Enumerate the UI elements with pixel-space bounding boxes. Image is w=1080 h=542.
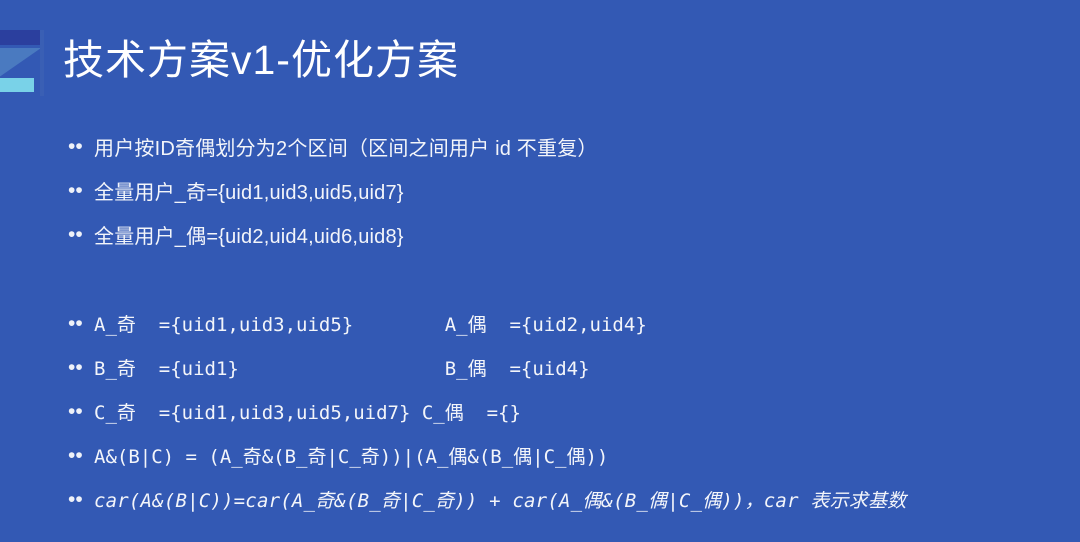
- list-item-label: 全量用户_偶={uid2,uid4,uid6,uid8}: [94, 220, 1058, 249]
- list-item-label: A&(B|C) = (A_奇&(B_奇|C_奇))|(A_偶&(B_偶|C_偶)…: [94, 442, 1058, 469]
- page-title: 技术方案v1-优化方案: [63, 34, 459, 86]
- list-item-label: A_奇 ={uid1,uid3,uid5} A_偶 ={uid2,uid4}: [94, 310, 1058, 337]
- bullet-icon: •: [68, 357, 94, 378]
- logo-top-bar: [0, 30, 42, 45]
- list-spacer: [68, 256, 1058, 301]
- list-item-label: B_奇 ={uid1} B_偶 ={uid4}: [94, 354, 1058, 381]
- list-item-set-c: • C_奇 ={uid1,uid3,uid5,uid7} C_偶 ={}: [68, 389, 1058, 433]
- list-item-partition-rule: • 用户按ID奇偶划分为2个区间（区间之间用户 id 不重复）: [68, 124, 1058, 168]
- list-item-formula-intersection: • A&(B|C) = (A_奇&(B_奇|C_奇))|(A_偶&(B_偶|C_…: [68, 433, 1058, 477]
- bullet-icon: •: [68, 401, 94, 422]
- list-item-set-b: • B_奇 ={uid1} B_偶 ={uid4}: [68, 345, 1058, 389]
- list-item-label: car(A&(B|C))=car(A_奇&(B_奇|C_奇)) + car(A_…: [94, 486, 1058, 513]
- list-item-label: 全量用户_奇={uid1,uid3,uid5,uid7}: [94, 176, 1058, 205]
- list-item-all-users-even: • 全量用户_偶={uid2,uid4,uid6,uid8}: [68, 212, 1058, 256]
- bullet-icon: •: [68, 313, 94, 334]
- logo-right-edge: [40, 30, 44, 96]
- list-item-label: 用户按ID奇偶划分为2个区间（区间之间用户 id 不重复）: [94, 132, 1058, 161]
- list-item-set-a: • A_奇 ={uid1,uid3,uid5} A_偶 ={uid2,uid4}: [68, 301, 1058, 345]
- list-item-all-users-odd: • 全量用户_奇={uid1,uid3,uid5,uid7}: [68, 168, 1058, 212]
- bullet-icon: •: [68, 445, 94, 466]
- brand-logo: [0, 30, 48, 96]
- logo-bottom-bar: [0, 78, 34, 92]
- bullet-icon: •: [68, 489, 94, 510]
- bullet-list: • 用户按ID奇偶划分为2个区间（区间之间用户 id 不重复） • 全量用户_奇…: [68, 124, 1058, 521]
- list-item-label: C_奇 ={uid1,uid3,uid5,uid7} C_偶 ={}: [94, 398, 1058, 425]
- bullet-icon: •: [68, 224, 94, 245]
- slide-canvas: 技术方案v1-优化方案 • 用户按ID奇偶划分为2个区间（区间之间用户 id 不…: [0, 0, 1080, 542]
- bullet-icon: •: [68, 136, 94, 157]
- logo-triangle: [0, 48, 41, 82]
- bullet-icon: •: [68, 180, 94, 201]
- list-item-formula-cardinality: • car(A&(B|C))=car(A_奇&(B_奇|C_奇)) + car(…: [68, 477, 1058, 521]
